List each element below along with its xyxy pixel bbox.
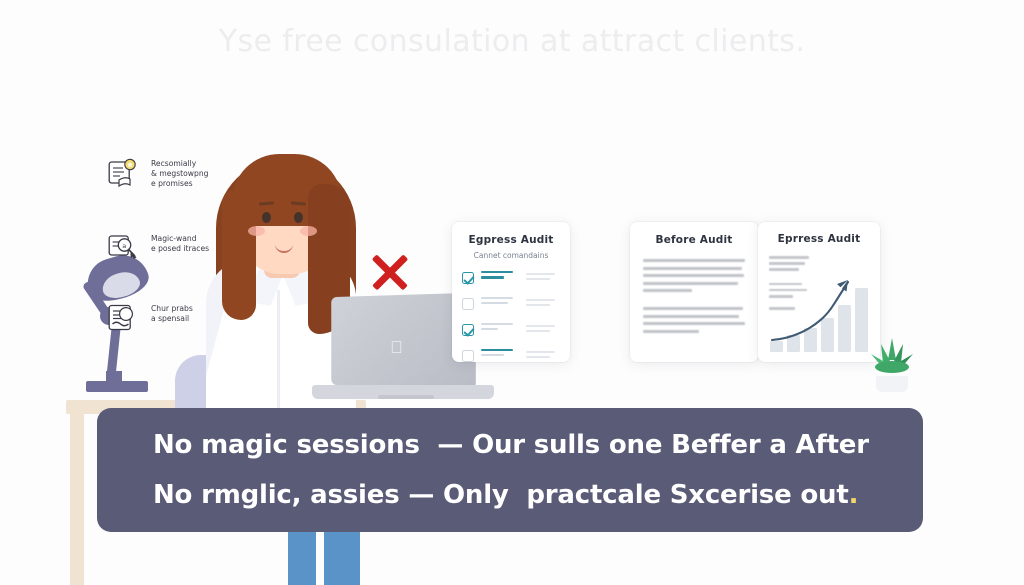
checklist-card-subtitle: Cannet comandains	[462, 251, 560, 260]
document-search-icon: a	[108, 233, 142, 263]
svg-text:a: a	[122, 242, 126, 250]
growth-card-title: Eprress Audit	[768, 233, 870, 245]
banner-line-2-text: No rmglic, assies — Only practcale Sxcer…	[153, 480, 849, 510]
row-line	[481, 271, 513, 273]
checklist-row[interactable]	[462, 271, 560, 297]
laptop-trackpad-lip	[378, 395, 434, 399]
hair-left	[222, 190, 256, 320]
page-title: Yse free consulation at attract clients.	[0, 24, 1024, 59]
slide-canvas: Yse free consulation at attract clients.…	[0, 0, 1024, 585]
row-line	[526, 351, 555, 353]
row-line	[526, 278, 550, 280]
growth-bar-chart	[770, 270, 868, 352]
row-lines-secondary	[526, 325, 560, 332]
row-lines	[481, 271, 519, 279]
desk-leg	[70, 412, 84, 585]
eye-right	[294, 212, 303, 223]
message-banner: No magic sessions — Our sulls one Beffer…	[97, 408, 923, 532]
document-signature-icon	[108, 303, 142, 333]
row-lines	[481, 297, 519, 304]
checkbox-unchecked[interactable]	[462, 298, 474, 310]
row-lines-secondary	[526, 273, 560, 280]
checkbox-checked[interactable]	[462, 324, 474, 336]
checklist-row[interactable]	[462, 323, 560, 349]
red-x-icon	[368, 250, 412, 294]
before-card-paragraph-1	[643, 259, 745, 292]
checklist-row[interactable]	[462, 297, 560, 323]
checkbox-unchecked[interactable]	[462, 350, 474, 362]
row-line	[526, 304, 550, 306]
eye-left	[262, 212, 271, 223]
row-line	[526, 273, 555, 275]
row-lines	[481, 323, 519, 330]
row-lines-secondary	[526, 299, 560, 306]
checklist-rows	[462, 271, 560, 375]
before-audit-card: Before Audit	[630, 222, 758, 362]
checkbox-checked[interactable]	[462, 272, 474, 284]
checklist-card-title: Egpress Audit	[462, 234, 560, 246]
cheek-right	[300, 226, 317, 236]
row-line	[526, 356, 550, 358]
apple-logo-icon: 	[390, 339, 406, 357]
row-line	[481, 323, 513, 325]
banner-line-1: No magic sessions — Our sulls one Beffer…	[153, 420, 867, 470]
express-audit-checklist-card: Egpress Audit Cannet comandains	[452, 222, 570, 362]
plant-pot	[876, 376, 908, 392]
row-line	[481, 354, 504, 356]
document-badge-icon	[108, 158, 142, 188]
before-card-title: Before Audit	[643, 234, 745, 246]
row-line	[481, 328, 498, 330]
row-line	[526, 325, 555, 327]
row-line	[481, 276, 504, 278]
row-line	[526, 299, 555, 301]
row-lines-secondary	[526, 351, 560, 358]
potted-plant-icon	[862, 334, 922, 392]
cheek-left	[248, 226, 265, 236]
checklist-row[interactable]	[462, 349, 560, 375]
row-line	[481, 302, 508, 304]
banner-accent-period: .	[849, 480, 859, 510]
before-card-paragraph-2	[643, 307, 745, 333]
row-line	[526, 330, 550, 332]
row-lines	[481, 349, 519, 356]
row-line	[481, 297, 513, 299]
banner-line-2: No rmglic, assies — Only practcale Sxcer…	[153, 470, 867, 520]
row-line	[481, 349, 513, 351]
upward-trend-arrow-icon	[770, 270, 868, 352]
